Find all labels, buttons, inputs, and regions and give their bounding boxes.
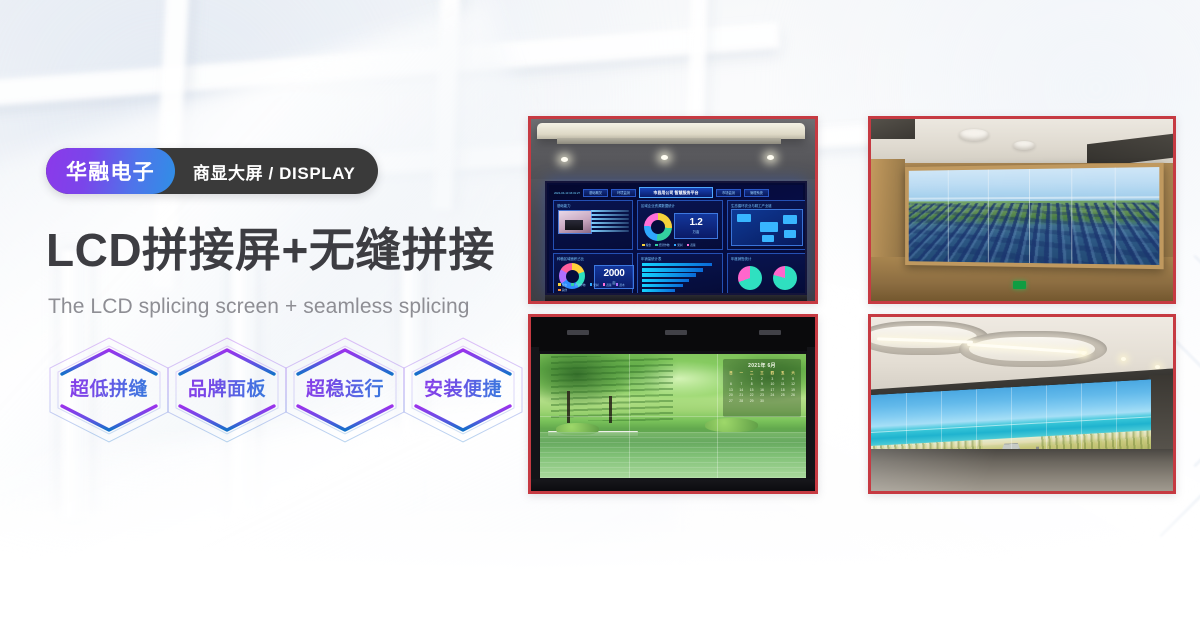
banner-content-column: 华融电子 商显大屏 / DISPLAY LCD拼接屏+无缝拼接 The LCD … bbox=[46, 0, 546, 640]
panel-bezel-seam bbox=[948, 170, 949, 262]
photo-scene: 2021年 6月 日 一 二 三 四 五 六 bbox=[531, 317, 815, 491]
page-title: LCD拼接屏+无缝拼接 bbox=[46, 226, 495, 274]
dashboard-timestamp: 2021-04-13 16:31:27 bbox=[552, 191, 580, 195]
lake-water bbox=[540, 432, 806, 478]
calendar-day: 12 bbox=[788, 382, 798, 387]
panel-bezel-seam bbox=[988, 170, 989, 263]
calendar-day: 3 bbox=[767, 377, 777, 382]
panel-bezel-seam bbox=[540, 416, 806, 417]
tree-trunk bbox=[567, 391, 570, 423]
calendar-day: 14 bbox=[736, 388, 746, 393]
calendar-day: 24 bbox=[767, 393, 777, 398]
legend-item: 果树 bbox=[674, 243, 683, 247]
calendar-day: 10 bbox=[767, 382, 777, 387]
calendar-grid: 日 一 二 三 四 五 六 1 2 3 bbox=[726, 371, 798, 404]
product-photo-control-room-dashboard: 2021-04-13 16:31:27 基础概况 环境监测 市县用公司 智慧服务… bbox=[528, 116, 818, 304]
calendar-day: 4 bbox=[778, 377, 788, 382]
dashboard-panel: 年度销售统计 bbox=[727, 253, 807, 295]
ceiling-spotlight bbox=[767, 155, 774, 160]
calendar-day: 17 bbox=[767, 388, 777, 393]
calendar-day: 7 bbox=[736, 382, 746, 387]
panel-title: 年度销售统计 bbox=[731, 256, 751, 261]
calendar-day bbox=[767, 399, 777, 404]
calendar-day: 15 bbox=[747, 388, 757, 393]
wall-left-bezel bbox=[531, 347, 539, 491]
brand-pill: 华融电子 商显大屏 / DISPLAY bbox=[46, 148, 378, 194]
ceiling-dome-light bbox=[959, 129, 989, 141]
calendar-day: 22 bbox=[747, 393, 757, 398]
panel-thumbnail bbox=[558, 210, 592, 234]
flow-node bbox=[737, 214, 751, 222]
wall-top-bezel bbox=[531, 317, 815, 351]
page-subtitle: The LCD splicing screen + seamless splic… bbox=[48, 295, 470, 319]
ceiling-cove-inner bbox=[557, 138, 781, 144]
feature-label: 超稳运行 bbox=[282, 374, 408, 401]
product-photo-solar-farm-wall bbox=[868, 116, 1176, 304]
lake-landscape-image: 2021年 6月 日 一 二 三 四 五 六 bbox=[540, 354, 806, 478]
calendar-day: 8 bbox=[747, 382, 757, 387]
chart-legend: 粮食 经济作物 果树 蔬菜 bbox=[642, 243, 718, 247]
legend-item: 经济作物 bbox=[655, 243, 669, 247]
solar-panel-array bbox=[909, 202, 1160, 265]
feature-badge-list: 超低拼缝 品牌面板 超稳运行 bbox=[46, 334, 546, 446]
dashboard-canvas: 2021-04-13 16:31:27 基础概况 环境监测 市县用公司 智慧服务… bbox=[549, 185, 803, 291]
ceiling-dome-light bbox=[1013, 141, 1035, 150]
feature-badge-ultra-stable: 超稳运行 bbox=[282, 334, 408, 446]
flow-node bbox=[762, 235, 774, 242]
polished-floor bbox=[871, 449, 1173, 491]
kpi-unit: 万亩 bbox=[693, 229, 700, 234]
calendar-weekday: 四 bbox=[767, 371, 777, 376]
calendar-day bbox=[778, 399, 788, 404]
calendar-day: 28 bbox=[736, 399, 746, 404]
photo-scene: 2021-04-13 16:31:27 基础概况 环境监测 市县用公司 智慧服务… bbox=[531, 119, 815, 301]
product-photo-beach-boardwalk-wall bbox=[868, 314, 1176, 494]
ceiling-spotlight bbox=[661, 155, 668, 160]
brand-company-chip: 华融电子 bbox=[46, 148, 175, 194]
calendar-day: 27 bbox=[726, 399, 736, 404]
solar-farm-image bbox=[909, 167, 1160, 265]
calendar-day: 21 bbox=[736, 393, 746, 398]
dashboard-nav-bar: 2021-04-13 16:31:27 基础概况 环境监测 市县用公司 智慧服务… bbox=[552, 187, 800, 198]
calendar-day: 11 bbox=[778, 382, 788, 387]
panel-title: 基础能力 bbox=[557, 203, 571, 208]
dashboard-tab[interactable]: 市场监测 bbox=[716, 189, 741, 197]
calendar-day bbox=[736, 377, 746, 382]
calendar-day: 29 bbox=[747, 399, 757, 404]
calendar-weekday: 日 bbox=[726, 371, 736, 376]
legend-item: 其他 bbox=[558, 288, 567, 292]
calendar-day: 25 bbox=[778, 393, 788, 398]
calendar-day bbox=[788, 399, 798, 404]
legend-item: 果树 bbox=[590, 283, 599, 287]
panel-bezel-seam bbox=[1071, 168, 1072, 263]
dashboard-tab[interactable]: 管理系统 bbox=[744, 189, 769, 197]
brand-logo-mark bbox=[759, 330, 781, 335]
photo-scene bbox=[871, 317, 1173, 491]
horizon-line bbox=[909, 196, 1160, 199]
flow-diagram bbox=[731, 209, 803, 246]
calendar-day: 26 bbox=[788, 393, 798, 398]
kpi-card: 1.2 万亩 bbox=[674, 213, 718, 239]
calendar-day: 13 bbox=[726, 388, 736, 393]
wall-right-bezel bbox=[807, 347, 815, 491]
legend-item: 蔬菜 bbox=[603, 283, 612, 287]
calendar-day: 5 bbox=[788, 377, 798, 382]
dashboard-panel: 生态循环农业与精工产业链 bbox=[727, 200, 807, 250]
panel-bezel-seam bbox=[1029, 169, 1030, 263]
video-wall-screen bbox=[905, 163, 1164, 269]
legend-item: 苗木 bbox=[616, 283, 625, 287]
feature-label: 超低拼缝 bbox=[46, 374, 172, 401]
dashboard-title: 市县用公司 智慧服务平台 bbox=[639, 187, 713, 198]
bar-chart bbox=[642, 263, 718, 295]
product-photo-lake-willow-wall: 2021年 6月 日 一 二 三 四 五 六 bbox=[528, 314, 818, 494]
panel-bezel-seam bbox=[1115, 168, 1116, 265]
flow-node bbox=[784, 230, 796, 238]
dashboard-tab[interactable]: 基础概况 bbox=[583, 189, 608, 197]
ceiling-cove bbox=[537, 123, 805, 139]
brand-logo-mark bbox=[567, 330, 589, 335]
calendar-day: 16 bbox=[757, 388, 767, 393]
shrub bbox=[705, 418, 758, 432]
calendar-weekday: 一 bbox=[736, 371, 746, 376]
calendar-day: 19 bbox=[788, 388, 798, 393]
panel-title: 年销量统计表 bbox=[641, 256, 661, 261]
calendar-overlay: 2021年 6月 日 一 二 三 四 五 六 bbox=[723, 359, 801, 417]
dashboard-panel: 年销量统计表 bbox=[637, 253, 723, 295]
calendar-day: 30 bbox=[757, 399, 767, 404]
panel-title: 种植区域面积占比 bbox=[557, 256, 584, 261]
pie-chart-group bbox=[732, 266, 802, 290]
side-wall-right bbox=[1149, 375, 1173, 451]
feature-badge-easy-install: 安装便捷 bbox=[400, 334, 526, 446]
kpi-value: 1.2 bbox=[689, 218, 702, 228]
dashboard-tab[interactable]: 环境监测 bbox=[611, 189, 636, 197]
panel-title: 生态循环农业与精工产业链 bbox=[731, 203, 772, 208]
panel-text-lines bbox=[591, 210, 629, 234]
flow-node bbox=[783, 215, 797, 224]
donut-chart bbox=[644, 213, 672, 241]
legend-item: 粮食 bbox=[558, 283, 567, 287]
pie-chart bbox=[773, 266, 797, 290]
ceiling-recess-left bbox=[871, 119, 915, 139]
flow-node bbox=[760, 222, 778, 232]
downlight bbox=[1121, 357, 1126, 361]
brand-logo-mark bbox=[665, 330, 687, 335]
calendar-day bbox=[726, 377, 736, 382]
feature-label: 品牌面板 bbox=[164, 374, 290, 401]
dashboard-panel: 种植区域面积占比 2000 亩 粮食 经济作物 果树 蔬菜 bbox=[553, 253, 633, 295]
legend-item: 蔬菜 bbox=[687, 243, 696, 247]
ceiling-spotlight bbox=[561, 157, 568, 162]
product-photo-gallery: 2021-04-13 16:31:27 基础概况 环境监测 市县用公司 智慧服务… bbox=[528, 116, 1176, 494]
calendar-day: 2 bbox=[757, 377, 767, 382]
calendar-day: 1 bbox=[747, 377, 757, 382]
feature-badge-brand-panel: 品牌面板 bbox=[164, 334, 290, 446]
calendar-day: 20 bbox=[726, 393, 736, 398]
dashboard-panel: 基础能力 bbox=[553, 200, 633, 250]
legend-item: 粮食 bbox=[642, 243, 651, 247]
downlight bbox=[1081, 351, 1086, 355]
chart-legend: 粮食 经济作物 果树 蔬菜 苗木 其他 bbox=[558, 283, 628, 293]
calendar-day: 9 bbox=[757, 382, 767, 387]
wall-bottom-bezel bbox=[531, 479, 815, 491]
feature-badge-ultra-narrow-bezel: 超低拼缝 bbox=[46, 334, 172, 446]
photo-scene bbox=[871, 119, 1173, 301]
calendar-weekday: 六 bbox=[788, 371, 798, 376]
tree-trunk bbox=[609, 396, 612, 423]
ceiling bbox=[531, 119, 815, 185]
promo-banner: 华融电子 商显大屏 / DISPLAY LCD拼接屏+无缝拼接 The LCD … bbox=[0, 0, 1200, 640]
panel-title: 区域企业资源数据统计 bbox=[641, 203, 675, 208]
kpi-value: 2000 bbox=[603, 269, 624, 279]
calendar-title: 2021年 6月 bbox=[726, 362, 798, 369]
video-wall-screen: 2021-04-13 16:31:27 基础概况 环境监测 市县用公司 智慧服务… bbox=[545, 181, 807, 295]
screen-base bbox=[545, 295, 807, 301]
feature-label: 安装便捷 bbox=[400, 374, 526, 401]
calendar-day: 6 bbox=[726, 382, 736, 387]
brand-category-tag: 商显大屏 / DISPLAY bbox=[175, 148, 378, 194]
calendar-weekday: 三 bbox=[757, 371, 767, 376]
calendar-day: 23 bbox=[757, 393, 767, 398]
calendar-weekday: 二 bbox=[747, 371, 757, 376]
exit-sign bbox=[1013, 281, 1026, 289]
calendar-day: 18 bbox=[778, 388, 788, 393]
video-wall-screen: 2021年 6月 日 一 二 三 四 五 六 bbox=[539, 353, 807, 479]
calendar-weekday: 五 bbox=[778, 371, 788, 376]
dashboard-panel: 区域企业资源数据统计 1.2 万亩 粮食 经济作物 果树 蔬菜 bbox=[637, 200, 723, 250]
pie-chart bbox=[738, 266, 762, 290]
legend-item: 经济作物 bbox=[571, 283, 585, 287]
